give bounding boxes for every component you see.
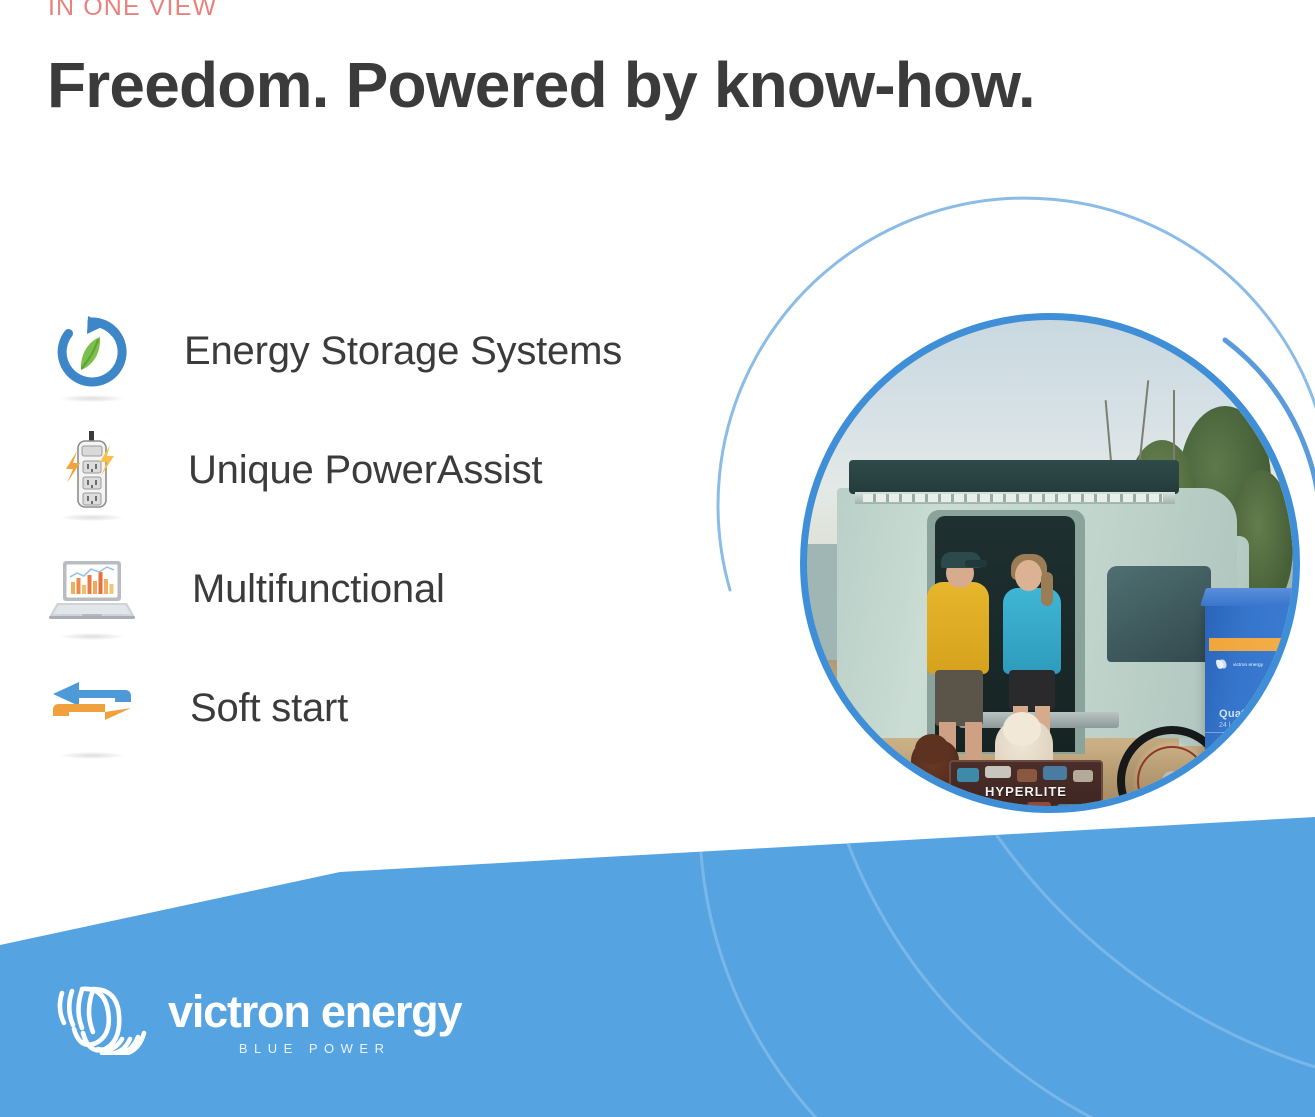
feature-item-multifunctional: Multifunctional [44, 530, 684, 649]
eyebrow-label: IN ONE VIEW [48, 0, 217, 22]
feature-label: Multifunctional [192, 567, 445, 612]
poster-canvas: IN ONE VIEW Freedom. Powered by know-how… [0, 0, 1315, 1117]
power-strip-icon [44, 423, 140, 519]
two-way-arrows-icon [44, 661, 140, 757]
hero-artwork: HYPERLITE victron energy [690, 120, 1315, 880]
box-sticker-text: HYPERLITE [951, 784, 1101, 799]
feature-label: Unique PowerAssist [188, 448, 542, 493]
logo-wordmark: victron energy [168, 989, 461, 1034]
page-title: Freedom. Powered by know-how. [47, 52, 1035, 119]
feature-label: Energy Storage Systems [184, 329, 622, 374]
icon-shadow [60, 395, 124, 402]
logo-tagline: BLUE POWER [239, 1042, 391, 1055]
sticker-box: HYPERLITE [949, 760, 1103, 806]
feature-item-energy-storage: Energy Storage Systems [44, 292, 684, 411]
charger-label: Charger [1291, 665, 1293, 671]
feature-list: Energy Storage Systems [44, 292, 684, 768]
recycle-leaf-icon [44, 304, 140, 400]
footer-banner: victron energy BLUE POWER [0, 817, 1315, 1117]
inverter-panel: Charger Inverter [1289, 662, 1293, 720]
feature-label: Soft start [190, 686, 348, 731]
laptop-chart-icon [44, 542, 140, 638]
inverter-model: 24 | 5000 | 120 [1219, 722, 1265, 729]
victron-logo-mark [52, 983, 152, 1055]
inverter-brand: victron energy [1233, 662, 1264, 668]
hero-photo: HYPERLITE victron energy [800, 313, 1300, 813]
icon-shadow [60, 633, 124, 640]
icon-shadow [60, 514, 124, 521]
feature-item-soft-start: Soft start [44, 649, 684, 768]
feature-item-powerassist: Unique PowerAssist [44, 411, 684, 530]
victron-logo: victron energy BLUE POWER [52, 983, 461, 1055]
inverter-name: Quattro [1219, 708, 1261, 720]
icon-shadow [60, 752, 124, 759]
quattro-inverter: victron energy Charger Inverter [1205, 602, 1293, 806]
